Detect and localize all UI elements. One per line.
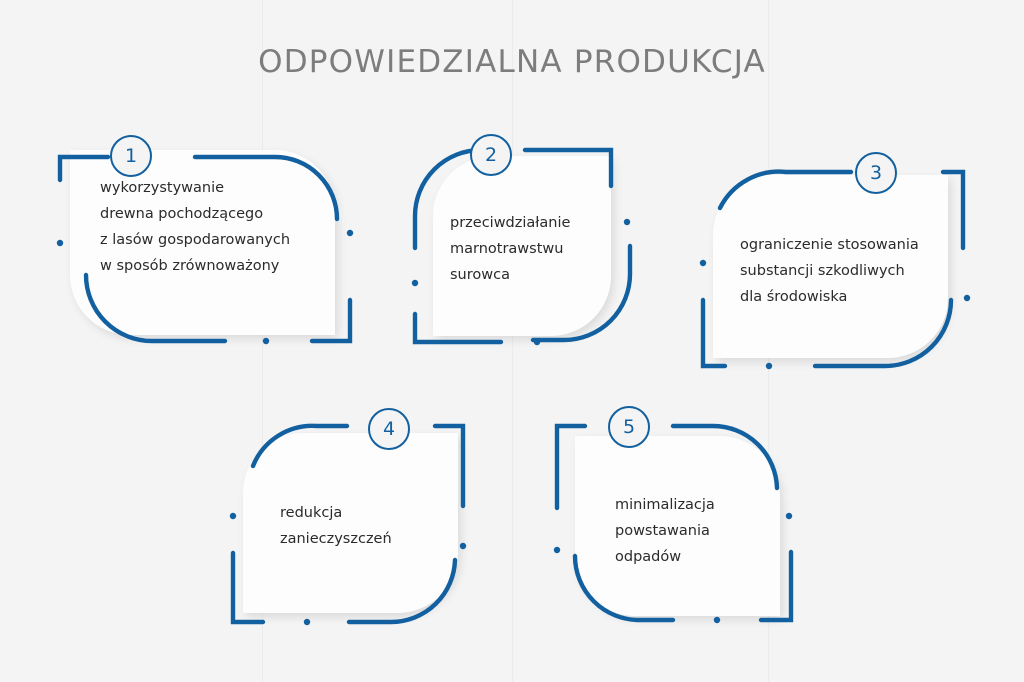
arc-bottom-left [86, 275, 225, 341]
accent-dot [554, 547, 560, 553]
card-text: redukcja zanieczyszczeń [280, 500, 475, 552]
accent-dot [766, 363, 772, 369]
card-number-badge: 1 [110, 135, 152, 177]
arc-top-right [673, 426, 777, 488]
accent-dot [347, 230, 353, 236]
accent-dot [57, 240, 63, 246]
corner-bracket-bottom-left [415, 314, 501, 342]
card-number-badge: 4 [368, 408, 410, 450]
accent-dot [304, 619, 310, 625]
accent-dot [714, 617, 720, 623]
info-card-4: redukcja zanieczyszczeń 4 [225, 408, 475, 640]
info-card-5: minimalizacja powstawania odpadów 5 [545, 408, 807, 640]
corner-bracket-top-right [525, 150, 611, 186]
corner-bracket-bottom-left [233, 553, 263, 622]
page-title: ODPOWIEDZIALNA PRODUKCJA [0, 44, 1024, 80]
card-number-badge: 2 [470, 134, 512, 176]
accent-dot [700, 260, 706, 266]
card-text: ograniczenie stosowania substancji szkod… [740, 232, 970, 310]
corner-bracket-top-left [557, 426, 585, 508]
card-number: 4 [383, 420, 395, 439]
info-card-1: wykorzystywanie drewna pochodzącego z la… [50, 125, 370, 360]
info-card-2: przeciwdziałanie marnotrawstwu surowca 2 [405, 128, 640, 363]
card-number: 3 [870, 164, 882, 183]
corner-bracket-top-right [435, 426, 463, 506]
corner-bracket-bottom-left [703, 300, 725, 366]
arc-bottom-right [349, 560, 455, 622]
card-text: minimalizacja powstawania odpadów [615, 492, 805, 570]
card-number-badge: 5 [608, 406, 650, 448]
card-text: przeciwdziałanie marnotrawstwu surowca [450, 210, 630, 288]
card-number: 2 [485, 146, 497, 165]
accent-dot [263, 338, 269, 344]
card-number: 5 [623, 418, 635, 437]
card-number-badge: 3 [855, 152, 897, 194]
arc-top-left [720, 172, 851, 208]
infographic-canvas: ODPOWIEDZIALNA PRODUKCJA wykorzystywanie… [0, 0, 1024, 682]
info-card-3: ograniczenie stosowania substancji szkod… [685, 150, 985, 385]
accent-dot [534, 339, 540, 345]
corner-bracket-bottom-right [312, 300, 350, 341]
card-text: wykorzystywanie drewna pochodzącego z la… [100, 175, 345, 279]
card-number: 1 [125, 147, 137, 166]
accent-dot [230, 513, 236, 519]
arc-top-left [253, 426, 347, 466]
accent-dot [412, 280, 418, 286]
